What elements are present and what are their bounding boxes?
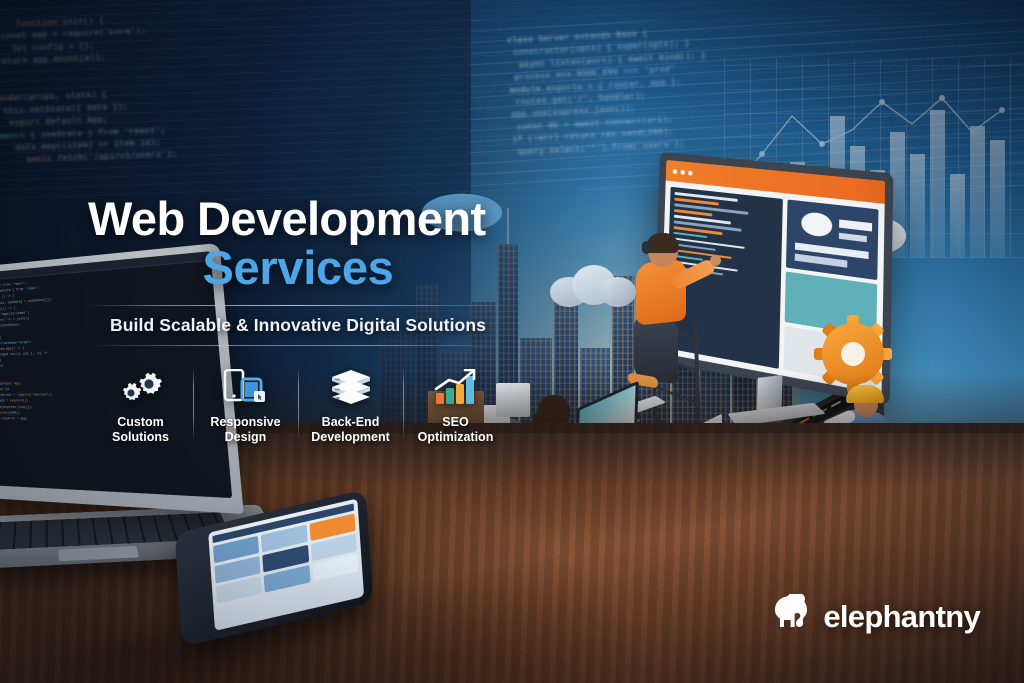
divider-bottom <box>88 345 508 346</box>
feature-label: SEOOptimization <box>418 415 494 445</box>
database-stack-icon <box>329 366 373 408</box>
gears-icon <box>118 366 164 408</box>
brand-logo[interactable]: elephantny <box>767 594 980 639</box>
headline-line-2: Services <box>88 244 508 292</box>
banner-content: Web Development Services Build Scalable … <box>88 195 508 445</box>
bar-chart-growth-icon <box>433 366 479 408</box>
feature-list: CustomSolutions ResponsiveDesign <box>88 366 508 445</box>
headline-line-1: Web Development <box>88 195 508 243</box>
cloud-icon-secondary <box>550 263 636 309</box>
web-development-services-banner: function init() { const app = require('c… <box>0 0 1024 683</box>
headset-icon <box>642 241 651 254</box>
developer-on-ladder <box>626 227 716 397</box>
feature-item-backend-development[interactable]: Back-EndDevelopment <box>298 366 403 445</box>
feature-item-custom-solutions[interactable]: CustomSolutions <box>88 366 193 445</box>
laptop-trackpad <box>58 546 139 561</box>
devices-icon <box>223 366 269 408</box>
feature-label: ResponsiveDesign <box>210 415 280 445</box>
logo-wordmark: elephantny <box>823 599 980 635</box>
feature-item-responsive-design[interactable]: ResponsiveDesign <box>193 366 298 445</box>
feature-label: Back-EndDevelopment <box>311 415 390 445</box>
tagline: Build Scalable & Innovative Digital Solu… <box>88 306 508 345</box>
elephant-icon <box>767 594 817 639</box>
feature-item-seo-optimization[interactable]: SEOOptimization <box>403 366 508 445</box>
feature-label: CustomSolutions <box>112 415 169 445</box>
